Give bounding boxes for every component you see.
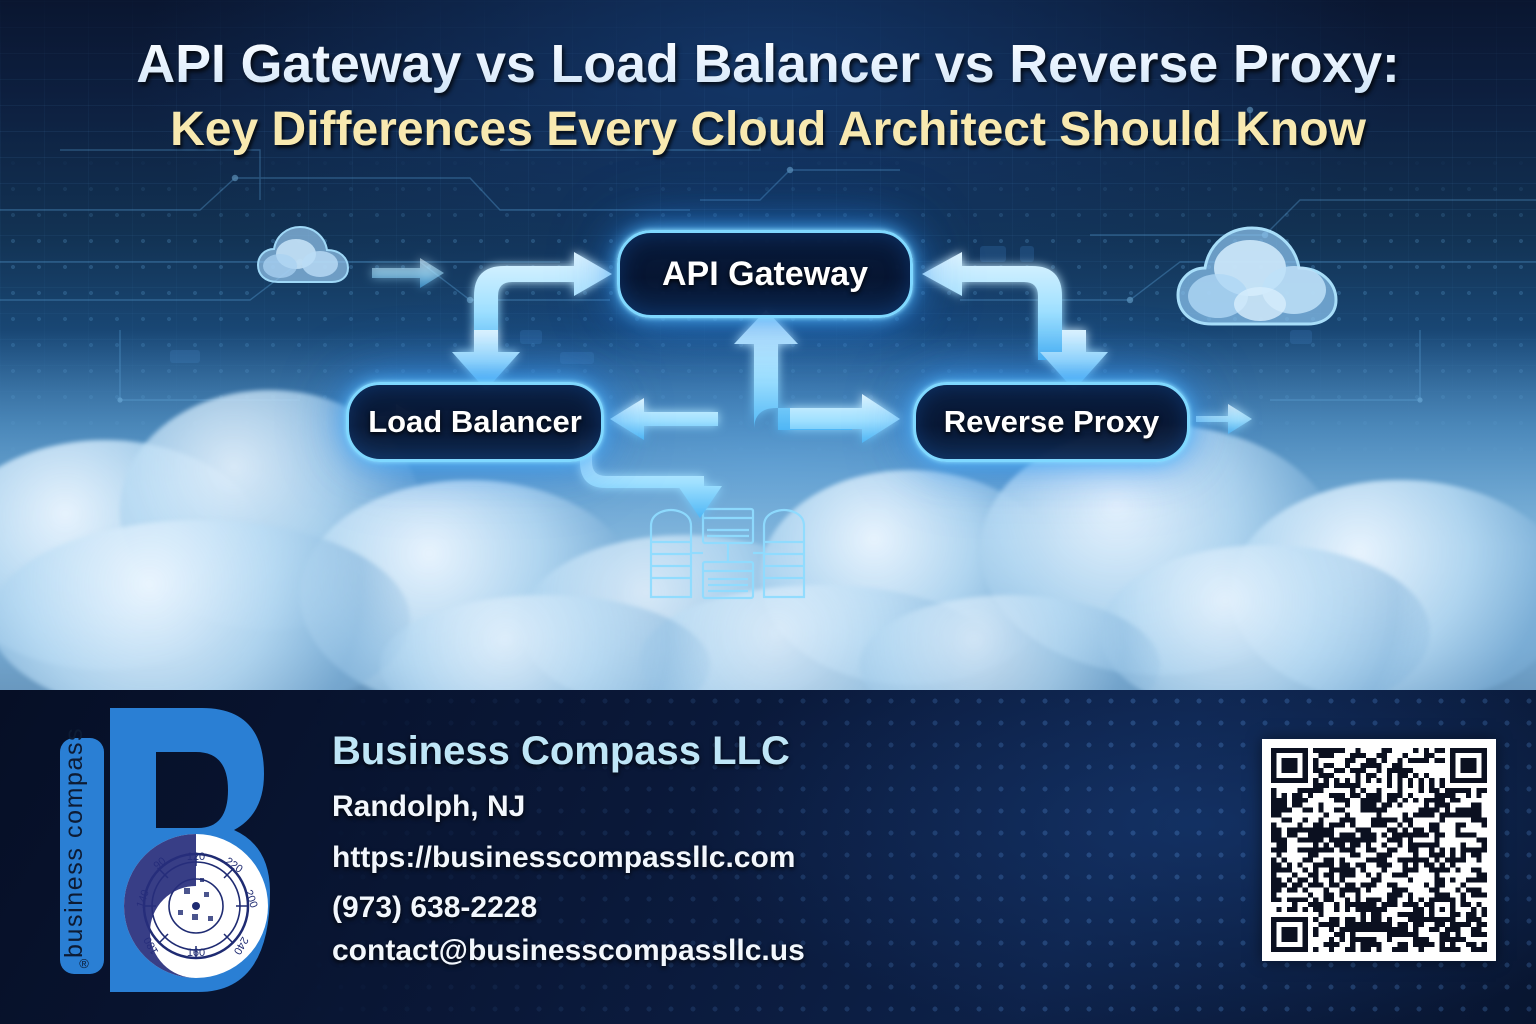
node-load-balancer-label: Load Balancer [368,404,582,440]
logo-registered-mark: ® [79,956,89,971]
company-email[interactable]: contact@businesscompassllc.us [332,934,972,969]
node-reverse-proxy[interactable]: Reverse Proxy [913,382,1190,462]
node-load-balancer[interactable]: Load Balancer [346,382,604,462]
company-location: Randolph, NJ [332,790,972,825]
company-phone[interactable]: (973) 638-2228 [332,891,972,926]
contact-block: Business Compass LLC Randolph, NJ https:… [332,730,972,976]
node-api-gateway-label: API Gateway [662,255,868,294]
company-website[interactable]: https://businesscompassllc.com [332,841,972,876]
node-reverse-proxy-label: Reverse Proxy [944,404,1159,440]
title-block: API Gateway vs Load Balancer vs Reverse … [0,34,1536,157]
node-api-gateway[interactable]: API Gateway [617,230,913,318]
qr-code[interactable] [1262,739,1496,961]
page-title: API Gateway vs Load Balancer vs Reverse … [0,34,1536,94]
hero-image: API Gateway vs Load Balancer vs Reverse … [0,0,1536,690]
svg-text:160: 160 [187,947,205,959]
company-logo: business compass ® 90 120 220 200 240 16… [52,700,310,1000]
company-name: Business Compass LLC [332,730,972,772]
page-subtitle: Key Differences Every Cloud Architect Sh… [0,104,1536,157]
logo-tagline: business compass [60,727,88,958]
qr-code-canvas [1271,748,1487,952]
poster: API Gateway vs Load Balancer vs Reverse … [0,0,1536,1024]
